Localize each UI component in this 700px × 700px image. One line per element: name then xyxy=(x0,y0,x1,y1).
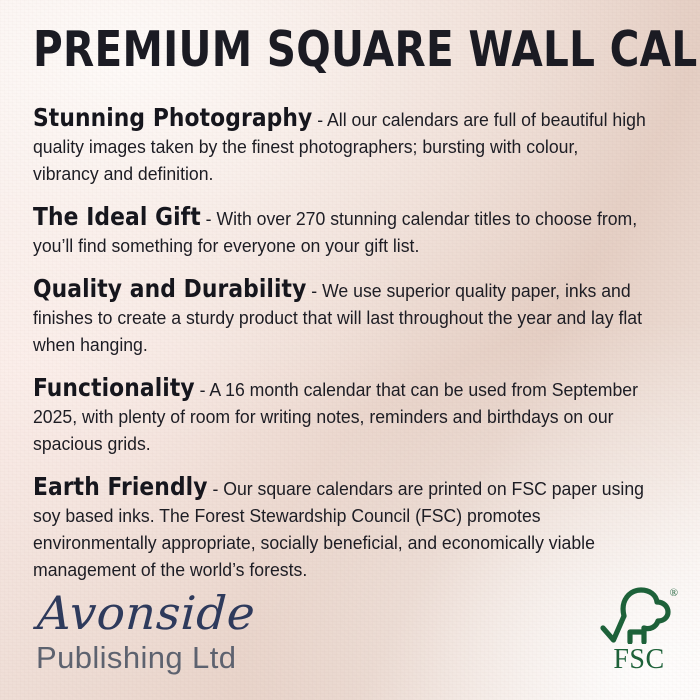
feature-section: Functionality - A 16 month calendar that… xyxy=(33,374,648,458)
page-content: PREMIUM SQUARE WALL CALENDARS Stunning P… xyxy=(0,0,700,700)
page-title: PREMIUM SQUARE WALL CALENDARS xyxy=(33,22,622,78)
brand-name: Avonside xyxy=(36,588,375,638)
calendar-info-page: PREMIUM SQUARE WALL CALENDARS Stunning P… xyxy=(0,0,700,700)
feature-heading: Functionality xyxy=(33,373,195,402)
feature-heading: Stunning Photography xyxy=(33,103,312,132)
feature-heading: Earth Friendly xyxy=(33,472,208,501)
feature-dash: - xyxy=(195,380,210,400)
feature-section: The Ideal Gift - With over 270 stunning … xyxy=(33,203,648,260)
feature-section-list: Stunning Photography - All our calendars… xyxy=(33,104,667,584)
registered-trademark-icon: ® xyxy=(670,588,678,599)
avonside-logo: Avonside Publishing Ltd xyxy=(36,588,366,676)
feature-section: Quality and Durability - We use superior… xyxy=(33,275,648,359)
feature-heading: Quality and Durability xyxy=(33,274,306,303)
fsc-certification-mark: ® FSC xyxy=(596,586,682,678)
fsc-label: FSC xyxy=(596,645,682,675)
feature-dash: - xyxy=(201,209,217,229)
feature-dash: - xyxy=(306,281,322,301)
fsc-tree-checkmark-icon xyxy=(600,586,678,644)
feature-heading: The Ideal Gift xyxy=(33,202,201,231)
feature-dash: - xyxy=(208,479,224,499)
feature-dash: - xyxy=(312,110,327,130)
brand-subtitle: Publishing Ltd xyxy=(36,640,366,676)
feature-section: Earth Friendly - Our square calendars ar… xyxy=(33,473,648,584)
feature-section: Stunning Photography - All our calendars… xyxy=(33,104,648,188)
